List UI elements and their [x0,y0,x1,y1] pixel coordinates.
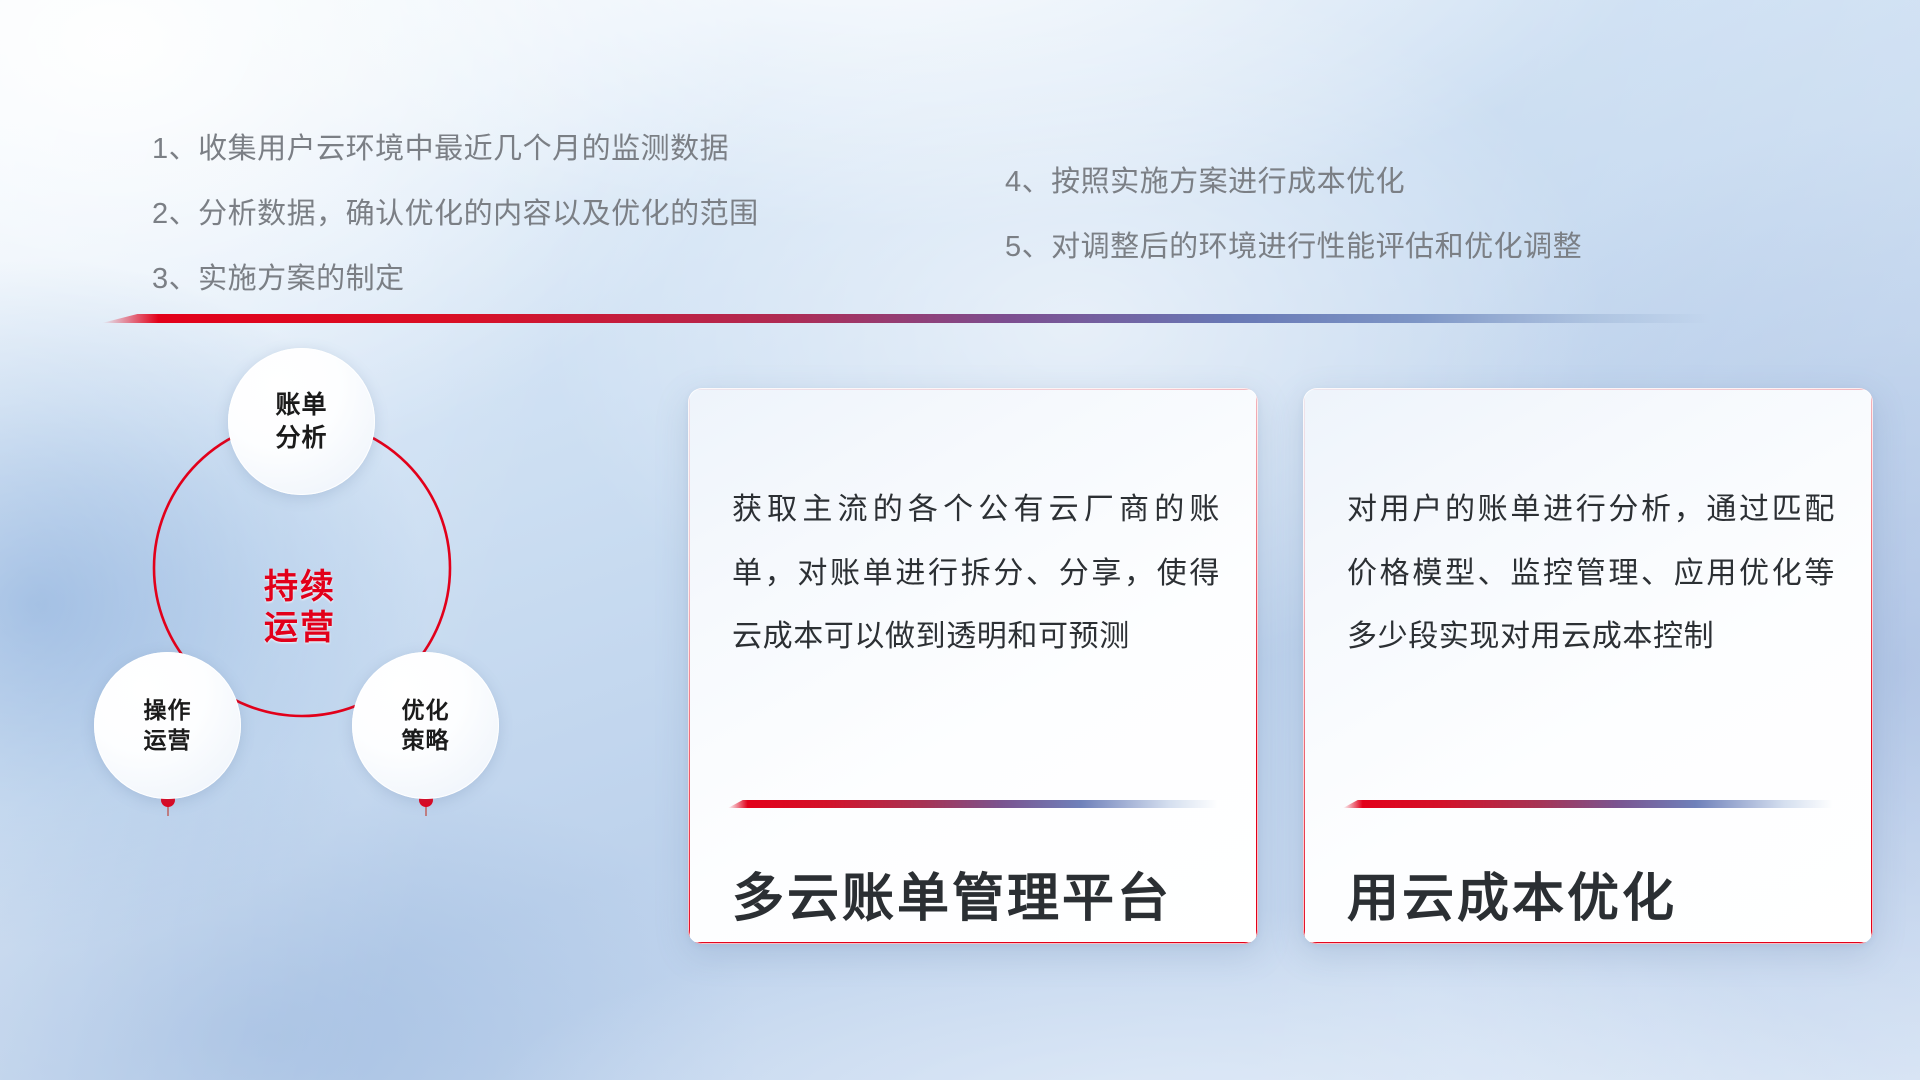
cycle-node-operations[interactable]: 操作 运营 [94,652,241,799]
cycle-center-label-line1: 持续 [180,567,420,608]
feature-card-2-description: 对用户的账单进行分析，通过匹配价格模型、监控管理、应用优化等多少段实现对用云成本… [1347,478,1835,669]
feature-card-1-rule [728,800,1218,808]
cycle-node-optimization-strategy-line1: 优化 [402,696,450,726]
section-divider-line [102,314,1710,323]
cycle-center-label-line2: 运营 [180,608,420,649]
section-divider-gradient-bar [102,314,1710,323]
cycle-node-optimization-strategy[interactable]: 优化 策略 [352,652,499,799]
cycle-node-billing-analysis-line2: 分析 [275,422,327,455]
feature-card-1-description: 获取主流的各个公有云厂商的账单，对账单进行拆分、分享，使得云成本可以做到透明和可… [732,478,1220,669]
process-step-2: 2、分析数据，确认优化的内容以及优化的范围 [152,190,759,232]
process-step-1: 1、收集用户云环境中最近几个月的监测数据 [152,125,729,167]
process-step-3: 3、实施方案的制定 [152,255,405,297]
cycle-node-billing-analysis-line1: 账单 [275,389,327,422]
cycle-center-label: 持续 运营 [180,567,420,650]
feature-card-2-title: 用云成本优化 [1347,856,1677,931]
process-step-list: 1、收集用户云环境中最近几个月的监测数据 2、分析数据，确认优化的内容以及优化的… [0,0,1920,300]
feature-card-2-rule [1343,800,1833,808]
process-step-5: 5、对调整后的环境进行性能评估和优化调整 [1005,223,1582,265]
feature-card-multicloud-billing[interactable]: 获取主流的各个公有云厂商的账单，对账单进行拆分、分享，使得云成本可以做到透明和可… [688,388,1258,944]
feature-card-1-rule-gradient [728,800,1218,808]
cycle-node-operations-line1: 操作 [144,696,192,726]
cycle-node-operations-line2: 运营 [144,726,192,756]
feature-card-2-rule-gradient [1343,800,1833,808]
feature-card-cloud-cost-optimization[interactable]: 对用户的账单进行分析，通过匹配价格模型、监控管理、应用优化等多少段实现对用云成本… [1303,388,1873,944]
process-step-4: 4、按照实施方案进行成本优化 [1005,158,1405,200]
cycle-diagram: 账单 分析 操作 运营 优化 策略 持续 运营 [100,352,640,952]
feature-card-1-title: 多云账单管理平台 [732,856,1172,931]
cycle-node-optimization-strategy-line2: 策略 [402,726,450,756]
cycle-node-billing-analysis[interactable]: 账单 分析 [228,348,375,495]
